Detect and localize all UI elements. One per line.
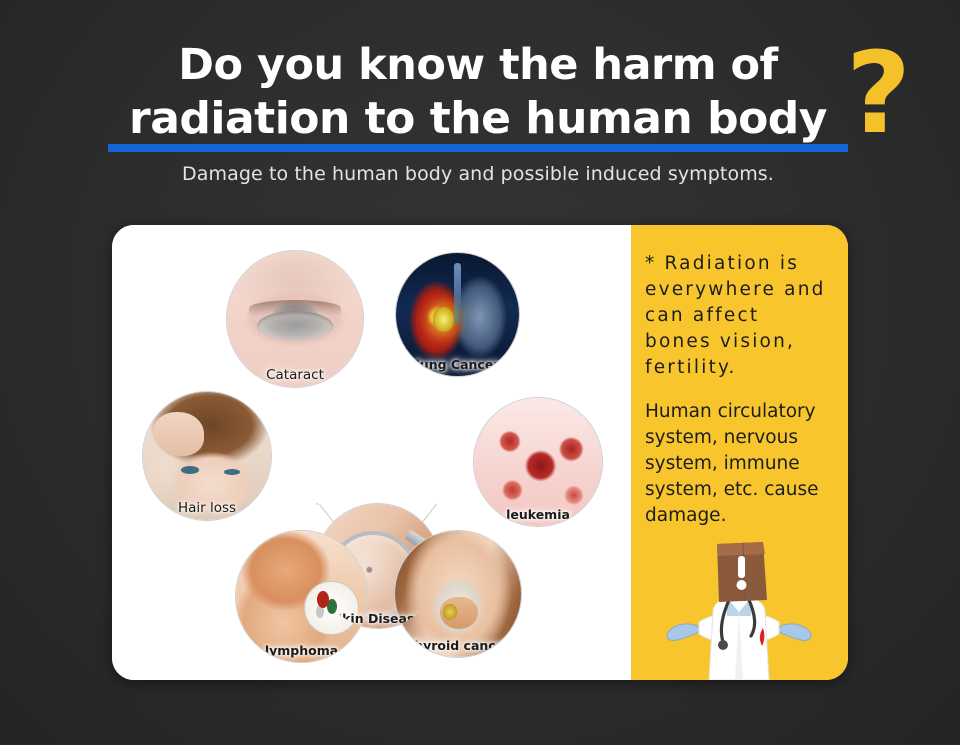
diagram-node-label: lymphoma	[236, 643, 367, 658]
diagram-node-label: Cataract	[227, 367, 363, 383]
info-paragraph-1: * Radiation is everywhere and can affect…	[645, 251, 834, 381]
title-line-2: radiation to the human body	[108, 92, 848, 146]
symptom-diagram: Cataract lung Cancer Hair loss Skin Dise…	[112, 225, 631, 680]
info-paragraph-2: Human circulatory system, nervous system…	[645, 399, 834, 529]
question-mark-icon: ?	[846, 38, 911, 150]
shrugging-doctor-illustration	[639, 530, 839, 680]
title-line-1: Do you know the harm of	[108, 38, 848, 92]
diagram-node-thyroid-cancer[interactable]: Thyroid cancer	[394, 530, 522, 658]
page-subtitle: Damage to the human body and possible in…	[108, 163, 848, 185]
header: Do you know the harm of radiation to the…	[0, 0, 960, 210]
diagram-node-leukemia[interactable]: leukemia	[473, 397, 603, 527]
title-underline	[108, 144, 848, 152]
info-panel: * Radiation is everywhere and can affect…	[631, 225, 848, 680]
content-card: Cataract lung Cancer Hair loss Skin Dise…	[112, 225, 848, 680]
diagram-node-label: Hair loss	[143, 500, 271, 516]
diagram-node-label: leukemia	[474, 507, 602, 522]
diagram-node-hair-loss[interactable]: Hair loss	[142, 391, 272, 521]
diagram-node-lymphoma[interactable]: lymphoma	[235, 530, 368, 663]
diagram-node-label: Skin Disease	[316, 611, 440, 626]
diagram-node-cataract[interactable]: Cataract	[226, 250, 364, 388]
diagram-node-lung-cancer[interactable]: lung Cancer	[395, 252, 520, 377]
page-title: Do you know the harm of radiation to the…	[108, 38, 848, 146]
diagram-node-label: Thyroid cancer	[395, 638, 521, 653]
diagram-node-label: lung Cancer	[396, 357, 519, 372]
